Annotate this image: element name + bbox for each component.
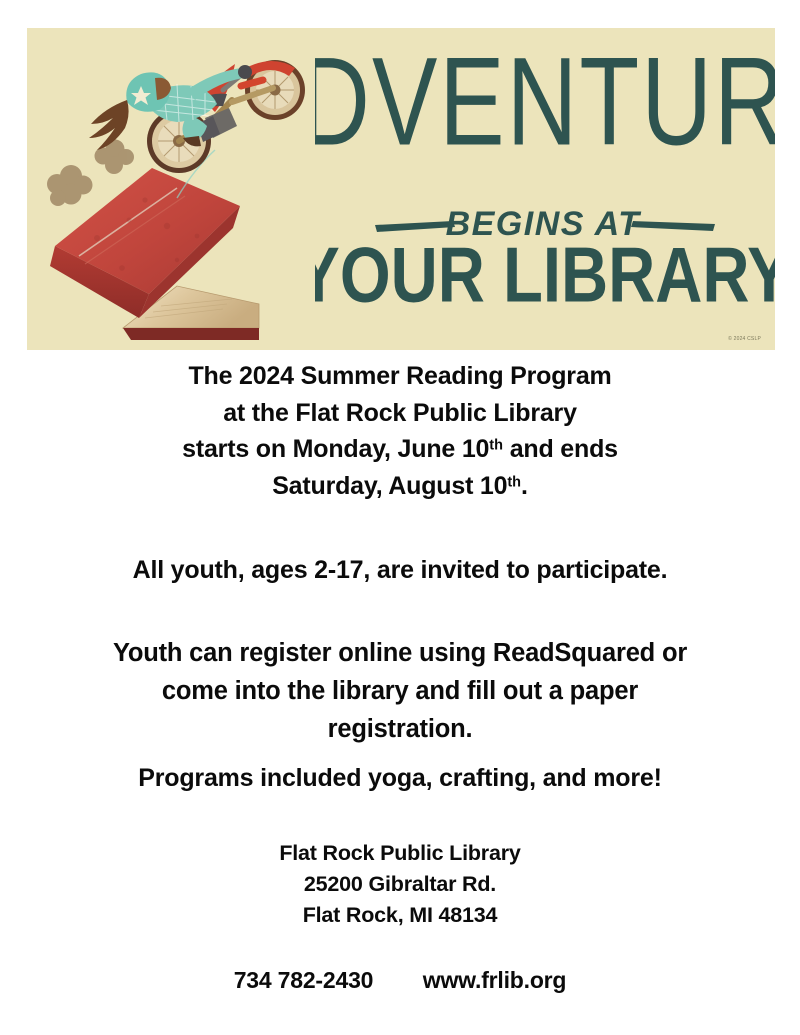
end-date-suffix: . — [521, 472, 528, 500]
registration-line-3: registration. — [0, 710, 800, 748]
banner-lettering: ADVENTURE BEGINS AT YOUR LIBRARY — [315, 28, 775, 350]
motocross-rider-book-illustration — [27, 28, 327, 350]
programs-line-1: Programs included yoga, crafting, and mo… — [0, 760, 800, 796]
program-dates-line-4: Saturday, August 10th. — [0, 468, 800, 505]
registration-paragraph: Youth can register online using ReadSqua… — [0, 634, 800, 748]
program-dates-line-1: The 2024 Summer Reading Program — [0, 358, 800, 395]
left-dash — [375, 221, 455, 232]
right-dash — [631, 221, 715, 231]
start-date-suffix: and ends — [503, 435, 618, 463]
contact-separator — [373, 967, 423, 993]
end-date-ordinal: th — [507, 474, 521, 490]
copyright-notice: © 2024 CSLP — [728, 336, 761, 342]
registration-line-2: come into the library and fill out a pap… — [0, 672, 800, 710]
program-dates-line-3: starts on Monday, June 10th and ends — [0, 431, 800, 468]
address-block: Flat Rock Public Library 25200 Gibraltar… — [0, 838, 800, 931]
contact-line: 734 782-2430 www.frlib.org — [234, 965, 567, 995]
summer-reading-banner: ADVENTURE BEGINS AT YOUR LIBRARY © 2024 … — [27, 28, 775, 350]
start-date-ordinal: th — [489, 437, 503, 453]
start-date-text: starts on Monday, June 10 — [182, 435, 489, 463]
address-line-3: Flat Rock, MI 48134 — [0, 900, 800, 931]
eligibility-paragraph: All youth, ages 2-17, are invited to par… — [0, 552, 800, 588]
program-dates-line-2: at the Flat Rock Public Library — [0, 395, 800, 432]
registration-line-1: Youth can register online using ReadSqua… — [0, 634, 800, 672]
banner-title-your-library: YOUR LIBRARY — [315, 232, 775, 319]
website-link[interactable]: www.frlib.org — [423, 967, 567, 993]
address-line-2: 25200 Gibraltar Rd. — [0, 869, 800, 900]
program-dates-paragraph: The 2024 Summer Reading Program at the F… — [0, 358, 800, 504]
contact-block: 734 782-2430 www.frlib.org — [0, 965, 800, 995]
hair — [89, 100, 129, 150]
flyer-body: The 2024 Summer Reading Program at the F… — [0, 358, 800, 995]
banner-title-adventure: ADVENTURE — [315, 31, 775, 171]
programs-paragraph: Programs included yoga, crafting, and mo… — [0, 760, 800, 796]
phone-number[interactable]: 734 782-2430 — [234, 967, 374, 993]
address-line-1: Flat Rock Public Library — [0, 838, 800, 869]
eligibility-line-1: All youth, ages 2-17, are invited to par… — [0, 552, 800, 588]
end-date-text: Saturday, August 10 — [272, 472, 507, 500]
